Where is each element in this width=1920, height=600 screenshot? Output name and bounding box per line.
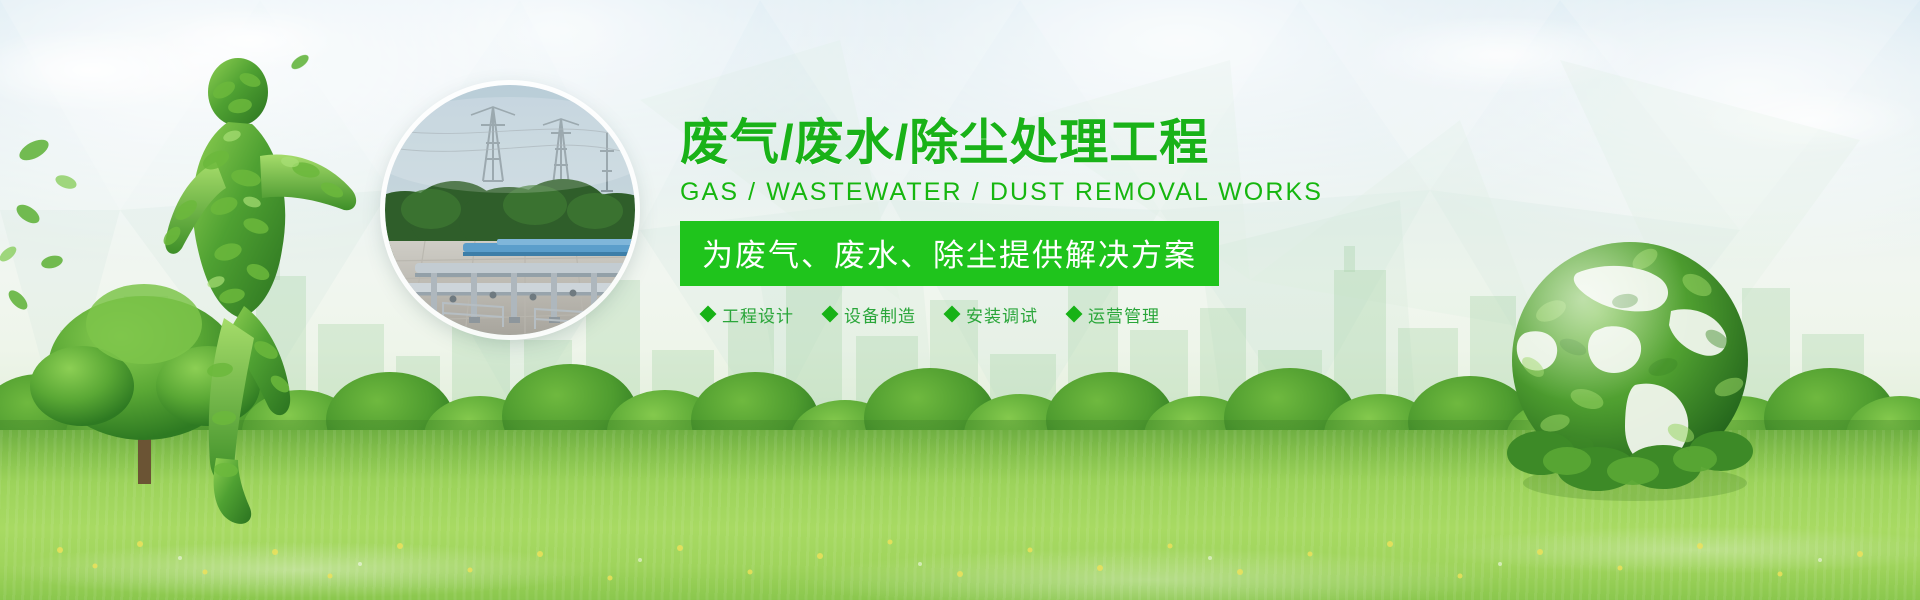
subtitle-english: GAS / WASTEWATER / DUST REMOVAL WORKS [680, 178, 1320, 207]
feature-label: 运营管理 [1088, 302, 1160, 327]
diamond-bullet-icon [822, 306, 839, 323]
feature-item: 运营管理 [1068, 302, 1160, 327]
feature-item: 安装调试 [946, 302, 1038, 327]
feature-label: 设备制造 [844, 302, 916, 327]
feature-item: 工程设计 [702, 302, 794, 327]
diamond-bullet-icon [1066, 306, 1083, 323]
slogan-text: 为废气、废水、除尘提供解决方案 [702, 238, 1197, 273]
feature-item: 设备制造 [824, 302, 916, 327]
diamond-bullet-icon [944, 306, 961, 323]
feature-label: 安装调试 [966, 302, 1038, 327]
feature-list: 工程设计 设备制造 安装调试 运营管理 [680, 302, 1320, 327]
feature-label: 工程设计 [722, 302, 794, 327]
banner-text-block: 废气/废水/除尘处理工程 GAS / WASTEWATER / DUST REM… [680, 118, 1320, 327]
slogan-banner-bar: 为废气、废水、除尘提供解决方案 [680, 221, 1219, 286]
page-title: 废气/废水/除尘处理工程 [680, 118, 1320, 169]
wastewater-treatment-plant-photo [385, 85, 635, 335]
diamond-bullet-icon [700, 306, 717, 323]
eco-engineering-banner: 废气/废水/除尘处理工程 GAS / WASTEWATER / DUST REM… [0, 0, 1920, 600]
green-leaf-earth-globe [1485, 215, 1775, 505]
